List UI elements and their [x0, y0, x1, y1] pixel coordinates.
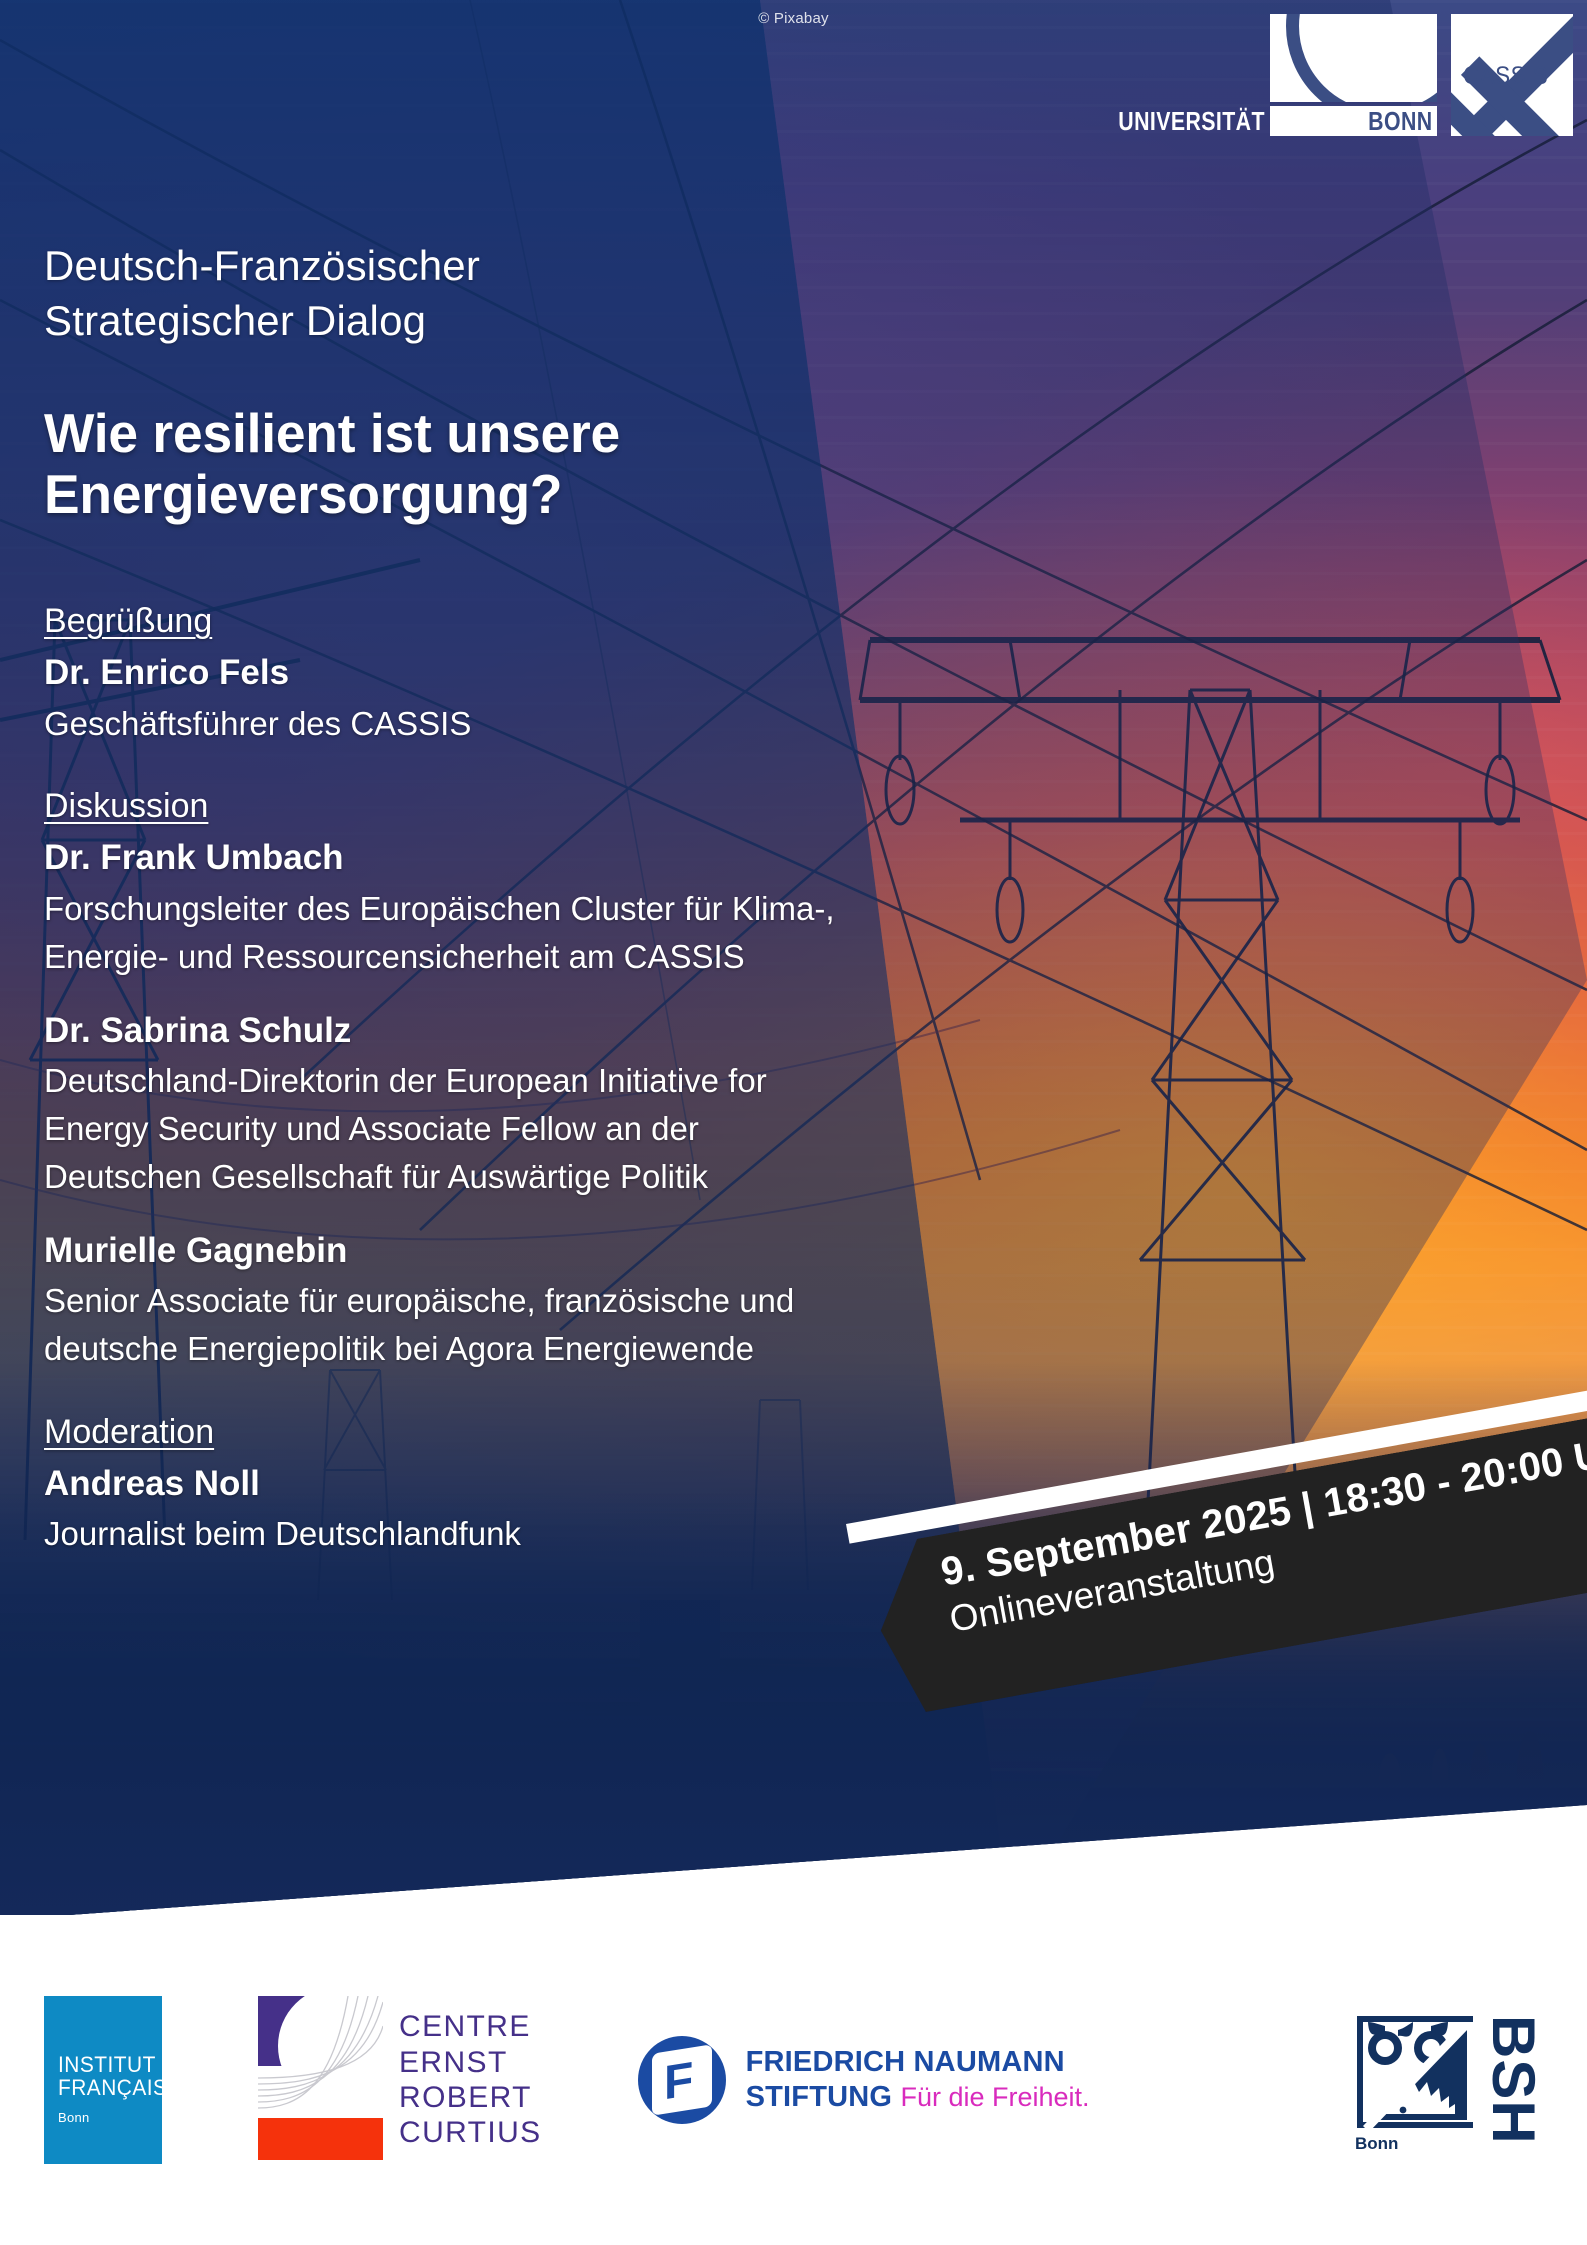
program-speaker-name: Andreas Noll: [44, 1458, 1044, 1511]
program-entry: Murielle Gagnebin Senior Associate für e…: [44, 1225, 1044, 1373]
university-name-prefix: UNIVERSITÄT: [1118, 106, 1270, 136]
partner-logo-bar: INSTITUT FRANÇAIS Bonn: [0, 1915, 1587, 2245]
program-speaker-affiliation: Deutschland-Direktorin der European Init…: [44, 1057, 1044, 1105]
institut-francais-city: Bonn: [58, 2111, 173, 2124]
fn-line-2-wrap: STIFTUNG Für die Freiheit.: [746, 2080, 1090, 2115]
university-bonn-logo: UNIVERSITÄT BONN: [1270, 14, 1437, 136]
institut-francais-mark-icon: INSTITUT FRANÇAIS Bonn: [44, 1996, 162, 2164]
program-speaker-affiliation: Deutschen Gesellschaft für Auswärtige Po…: [44, 1153, 1044, 1201]
fn-tagline: Für die Freiheit.: [900, 2082, 1089, 2112]
top-logo-row: UNIVERSITÄT BONN CASSIS: [1270, 14, 1573, 136]
program-speaker-affiliation: Geschäftsführer des CASSIS: [44, 700, 1044, 748]
cerc-word-2: ERNST: [399, 2045, 542, 2080]
page-title: Wie resilient ist unsere Energieversorgu…: [44, 403, 1014, 526]
event-poster: © Pixabay UNIVERSITÄT BONN CASSIS Deutsc…: [0, 0, 1587, 2245]
program-role-label: Begrüßung: [44, 596, 1044, 647]
kicker-line-1: Deutsch-Französischer: [44, 238, 1044, 293]
bsh-city-label: Bonn: [1355, 2134, 1398, 2154]
program-speaker-affiliation: Senior Associate für europäische, franzö…: [44, 1277, 1044, 1325]
kicker-line-2: Strategischer Dialog: [44, 293, 1044, 348]
program-speaker-affiliation: Forschungsleiter des Europäischen Cluste…: [44, 885, 1044, 933]
poster-content: Deutsch-Französischer Strategischer Dial…: [44, 238, 1044, 1566]
friedrich-naumann-wordmark: FRIEDRICH NAUMANN STIFTUNG Für die Freih…: [746, 2045, 1090, 2116]
university-wordmark: BONN: [1270, 106, 1437, 136]
institut-francais-text: INSTITUT FRANÇAIS Bonn: [58, 2054, 173, 2124]
program-speaker-name: Dr. Sabrina Schulz: [44, 1005, 1044, 1058]
cerc-word-3: ROBERT: [399, 2080, 542, 2115]
cassis-label: CASSIS: [1463, 62, 1548, 91]
fn-line-2: STIFTUNG: [746, 2081, 893, 2113]
friedrich-naumann-mark-icon: F: [638, 2036, 726, 2124]
cerc-curve-lines-icon: [258, 1996, 383, 2114]
university-wordmark-label: BONN: [1369, 106, 1433, 137]
cassis-logo: CASSIS: [1451, 14, 1573, 136]
institut-francais-line-2: FRANÇAIS: [58, 2077, 167, 2099]
cerc-word-1: CENTRE: [399, 2009, 542, 2044]
institut-francais-logo: INSTITUT FRANÇAIS Bonn: [44, 1996, 162, 2164]
program-list: Begrüßung Dr. Enrico Fels Geschäftsführe…: [44, 596, 1044, 1558]
bsh-logo: Bonn BSH: [1351, 2010, 1543, 2150]
program-entry: Dr. Sabrina Schulz Deutschland-Direktori…: [44, 1005, 1044, 1201]
program-speaker-affiliation: Energy Security und Associate Fellow an …: [44, 1105, 1044, 1153]
program-speaker-name: Dr. Frank Umbach: [44, 832, 1044, 885]
program-entry: Diskussion Dr. Frank Umbach Forschungsle…: [44, 781, 1044, 980]
cerc-logo: CENTRE ERNST ROBERT CURTIUS: [258, 1996, 542, 2164]
program-entry: Begrüßung Dr. Enrico Fels Geschäftsführe…: [44, 596, 1044, 747]
university-arc-mark-icon: [1270, 14, 1437, 102]
program-role-label: Moderation: [44, 1407, 1044, 1458]
program-speaker-affiliation: deutsche Energiepolitik bei Agora Energi…: [44, 1325, 1044, 1373]
bsh-letters: BSH: [1483, 2015, 1543, 2145]
program-speaker-name: Dr. Enrico Fels: [44, 647, 1044, 700]
series-kicker: Deutsch-Französischer Strategischer Dial…: [44, 238, 1044, 349]
friedrich-naumann-logo: F FRIEDRICH NAUMANN STIFTUNG Für die Fre…: [638, 2036, 1090, 2124]
program-speaker-affiliation: Energie- und Ressourcensicherheit am CAS…: [44, 933, 1044, 981]
bsh-owl-mark-icon: Bonn: [1351, 2010, 1479, 2150]
program-speaker-name: Murielle Gagnebin: [44, 1225, 1044, 1278]
cerc-red-shape: [258, 2118, 383, 2160]
cerc-mark-icon: [258, 1996, 383, 2164]
cerc-wordmark: CENTRE ERNST ROBERT CURTIUS: [399, 2009, 542, 2151]
fn-line-1: FRIEDRICH NAUMANN: [746, 2045, 1090, 2080]
institut-francais-line-1: INSTITUT: [58, 2054, 167, 2076]
fn-letter-f: F: [664, 2056, 693, 2109]
cerc-word-4: CURTIUS: [399, 2115, 542, 2150]
bsh-owl-glyph: [1351, 2010, 1479, 2150]
program-role-label: Diskussion: [44, 781, 1044, 832]
